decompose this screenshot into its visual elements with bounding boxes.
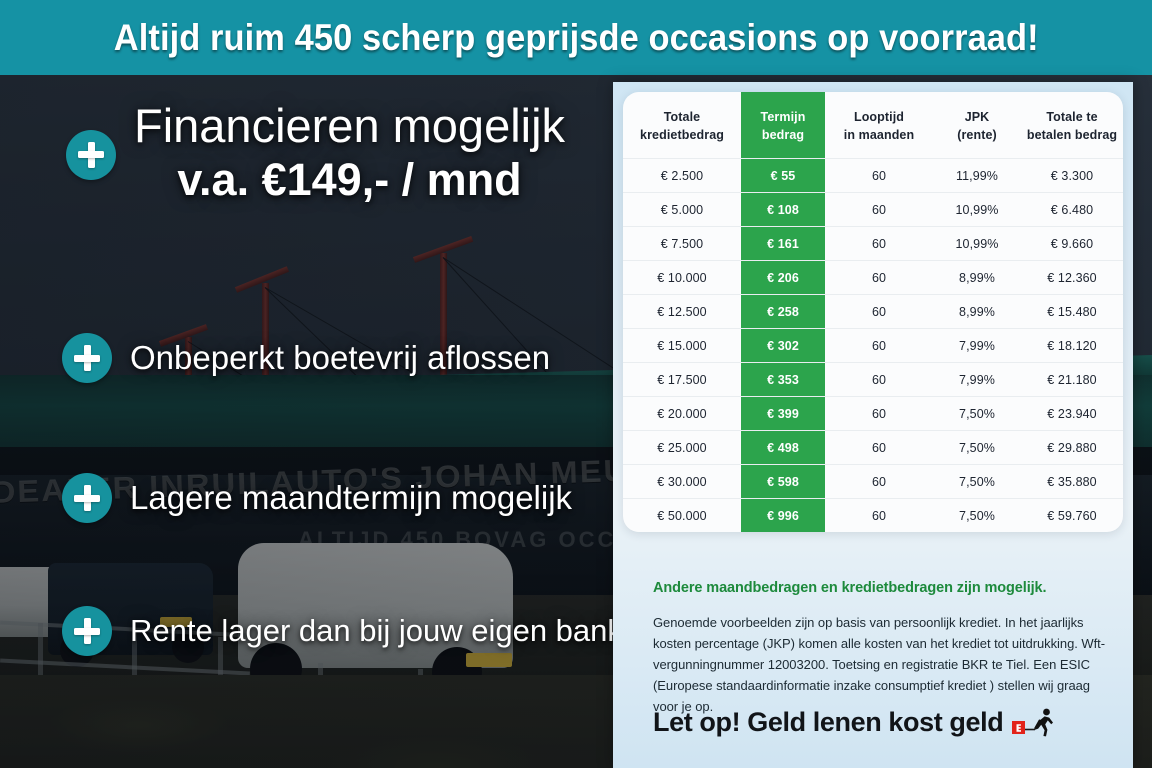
cell-termijnbedrag: € 302 <box>741 329 825 363</box>
header-line: Looptijd <box>854 110 904 124</box>
cell-looptijd: 60 <box>825 465 933 499</box>
table-row: € 20.000€ 399607,50%€ 23.940 <box>623 397 1123 431</box>
cell-looptijd: 60 <box>825 329 933 363</box>
column-header-totale-te-betalen: Totale te betalen bedrag <box>1021 92 1123 159</box>
cell-totale-te-betalen: € 21.180 <box>1021 363 1123 397</box>
header-line: JPK <box>965 110 990 124</box>
column-header-termijn-bedrag: Termijn bedrag <box>741 92 825 159</box>
cell-kredietbedrag: € 5.000 <box>623 193 741 227</box>
table-row: € 2.500€ 556011,99%€ 3.300 <box>623 159 1123 193</box>
rate-table-card: Totale kredietbedrag Termijn bedrag Loop… <box>623 92 1123 532</box>
feature-list: Financieren mogelijk v.a. €149,- / mnd O… <box>0 75 620 768</box>
header-line: Totale te <box>1046 110 1097 124</box>
cell-kredietbedrag: € 2.500 <box>623 159 741 193</box>
feature-item-rente-lager: Rente lager dan bij jouw eigen bank <box>62 606 623 656</box>
cell-jpk: 7,99% <box>933 329 1021 363</box>
plus-circle-icon <box>66 130 116 180</box>
cell-termijnbedrag: € 206 <box>741 261 825 295</box>
cell-looptijd: 60 <box>825 227 933 261</box>
cell-termijnbedrag: € 996 <box>741 499 825 532</box>
cell-jpk: 7,50% <box>933 397 1021 431</box>
cell-kredietbedrag: € 10.000 <box>623 261 741 295</box>
cell-kredietbedrag: € 7.500 <box>623 227 741 261</box>
cell-jpk: 8,99% <box>933 261 1021 295</box>
header-line: in maanden <box>844 128 914 142</box>
cell-looptijd: 60 <box>825 431 933 465</box>
disclaimer-title: Andere maandbedragen en kredietbedragen … <box>653 579 1105 598</box>
cell-jpk: 7,50% <box>933 499 1021 532</box>
column-header-looptijd: Looptijd in maanden <box>825 92 933 159</box>
cell-totale-te-betalen: € 3.300 <box>1021 159 1123 193</box>
table-row: € 12.500€ 258608,99%€ 15.480 <box>623 295 1123 329</box>
header-line: Totale <box>664 110 700 124</box>
table-header-row: Totale kredietbedrag Termijn bedrag Loop… <box>623 92 1123 159</box>
cell-kredietbedrag: € 12.500 <box>623 295 741 329</box>
promo-banner-text: Altijd ruim 450 scherp geprijsde occasio… <box>114 17 1039 59</box>
cell-totale-te-betalen: € 6.480 <box>1021 193 1123 227</box>
hero-headline-lines: Financieren mogelijk v.a. €149,- / mnd <box>134 101 565 208</box>
cell-kredietbedrag: € 15.000 <box>623 329 741 363</box>
header-line: bedrag <box>762 128 804 142</box>
cell-jpk: 7,50% <box>933 431 1021 465</box>
cell-totale-te-betalen: € 12.360 <box>1021 261 1123 295</box>
hero-headline-line2: v.a. €149,- / mnd <box>177 152 521 208</box>
cell-totale-te-betalen: € 59.760 <box>1021 499 1123 532</box>
cell-termijnbedrag: € 55 <box>741 159 825 193</box>
cell-kredietbedrag: € 25.000 <box>623 431 741 465</box>
table-row: € 10.000€ 206608,99%€ 12.360 <box>623 261 1123 295</box>
feature-label: Onbeperkt boetevrij aflossen <box>130 339 550 377</box>
cell-totale-te-betalen: € 35.880 <box>1021 465 1123 499</box>
cell-looptijd: 60 <box>825 397 933 431</box>
cell-kredietbedrag: € 50.000 <box>623 499 741 532</box>
table-row: € 15.000€ 302607,99%€ 18.120 <box>623 329 1123 363</box>
promo-banner: Altijd ruim 450 scherp geprijsde occasio… <box>0 0 1152 75</box>
table-row: € 50.000€ 996607,50%€ 59.760 <box>623 499 1123 532</box>
cell-totale-te-betalen: € 9.660 <box>1021 227 1123 261</box>
plus-circle-icon <box>62 473 112 523</box>
feature-item-lagere-maandtermijn: Lagere maandtermijn mogelijk <box>62 473 572 523</box>
hero-headline-block: Financieren mogelijk v.a. €149,- / mnd <box>66 101 565 208</box>
disclaimer-block: Andere maandbedragen en kredietbedragen … <box>653 579 1105 717</box>
feature-item-onbeperkt-aflossen: Onbeperkt boetevrij aflossen <box>62 333 550 383</box>
cell-jpk: 10,99% <box>933 227 1021 261</box>
cell-looptijd: 60 <box>825 363 933 397</box>
table-row: € 25.000€ 498607,50%€ 29.880 <box>623 431 1123 465</box>
cell-totale-te-betalen: € 29.880 <box>1021 431 1123 465</box>
table-row: € 30.000€ 598607,50%€ 35.880 <box>623 465 1123 499</box>
disclaimer-body: Genoemde voorbeelden zijn op basis van p… <box>653 612 1105 717</box>
cell-jpk: 11,99% <box>933 159 1021 193</box>
cell-termijnbedrag: € 353 <box>741 363 825 397</box>
column-header-totale-kredietbedrag: Totale kredietbedrag <box>623 92 741 159</box>
cell-termijnbedrag: € 258 <box>741 295 825 329</box>
header-line: betalen bedrag <box>1027 128 1117 142</box>
cell-jpk: 8,99% <box>933 295 1021 329</box>
cell-termijnbedrag: € 399 <box>741 397 825 431</box>
money-drag-warning-icon <box>1011 708 1057 738</box>
cell-totale-te-betalen: € 18.120 <box>1021 329 1123 363</box>
cell-kredietbedrag: € 20.000 <box>623 397 741 431</box>
hero-headline-line1: Financieren mogelijk <box>134 101 565 152</box>
cell-jpk: 7,50% <box>933 465 1021 499</box>
cell-looptijd: 60 <box>825 499 933 532</box>
plus-circle-icon <box>62 333 112 383</box>
cell-totale-te-betalen: € 15.480 <box>1021 295 1123 329</box>
cell-termijnbedrag: € 498 <box>741 431 825 465</box>
column-header-jpk: JPK (rente) <box>933 92 1021 159</box>
cell-termijnbedrag: € 598 <box>741 465 825 499</box>
header-line: Termijn <box>761 110 806 124</box>
cell-looptijd: 60 <box>825 261 933 295</box>
table-row: € 17.500€ 353607,99%€ 21.180 <box>623 363 1123 397</box>
plus-circle-icon <box>62 606 112 656</box>
credit-warning-row: Let op! Geld lenen kost geld <box>653 707 1123 738</box>
cell-looptijd: 60 <box>825 159 933 193</box>
cell-looptijd: 60 <box>825 295 933 329</box>
credit-info-panel: Totale kredietbedrag Termijn bedrag Loop… <box>613 82 1133 768</box>
cell-termijnbedrag: € 161 <box>741 227 825 261</box>
header-line: (rente) <box>957 128 997 142</box>
table-row: € 7.500€ 1616010,99%€ 9.660 <box>623 227 1123 261</box>
feature-label: Rente lager dan bij jouw eigen bank <box>130 613 623 649</box>
credit-rate-table: Totale kredietbedrag Termijn bedrag Loop… <box>623 92 1123 532</box>
cell-kredietbedrag: € 17.500 <box>623 363 741 397</box>
cell-totale-te-betalen: € 23.940 <box>1021 397 1123 431</box>
table-row: € 5.000€ 1086010,99%€ 6.480 <box>623 193 1123 227</box>
feature-label: Lagere maandtermijn mogelijk <box>130 479 572 517</box>
cell-termijnbedrag: € 108 <box>741 193 825 227</box>
table-body: € 2.500€ 556011,99%€ 3.300€ 5.000€ 10860… <box>623 159 1123 532</box>
cell-jpk: 7,99% <box>933 363 1021 397</box>
cell-kredietbedrag: € 30.000 <box>623 465 741 499</box>
credit-warning-text: Let op! Geld lenen kost geld <box>653 707 1003 738</box>
header-line: kredietbedrag <box>640 128 724 142</box>
cell-jpk: 10,99% <box>933 193 1021 227</box>
cell-looptijd: 60 <box>825 193 933 227</box>
